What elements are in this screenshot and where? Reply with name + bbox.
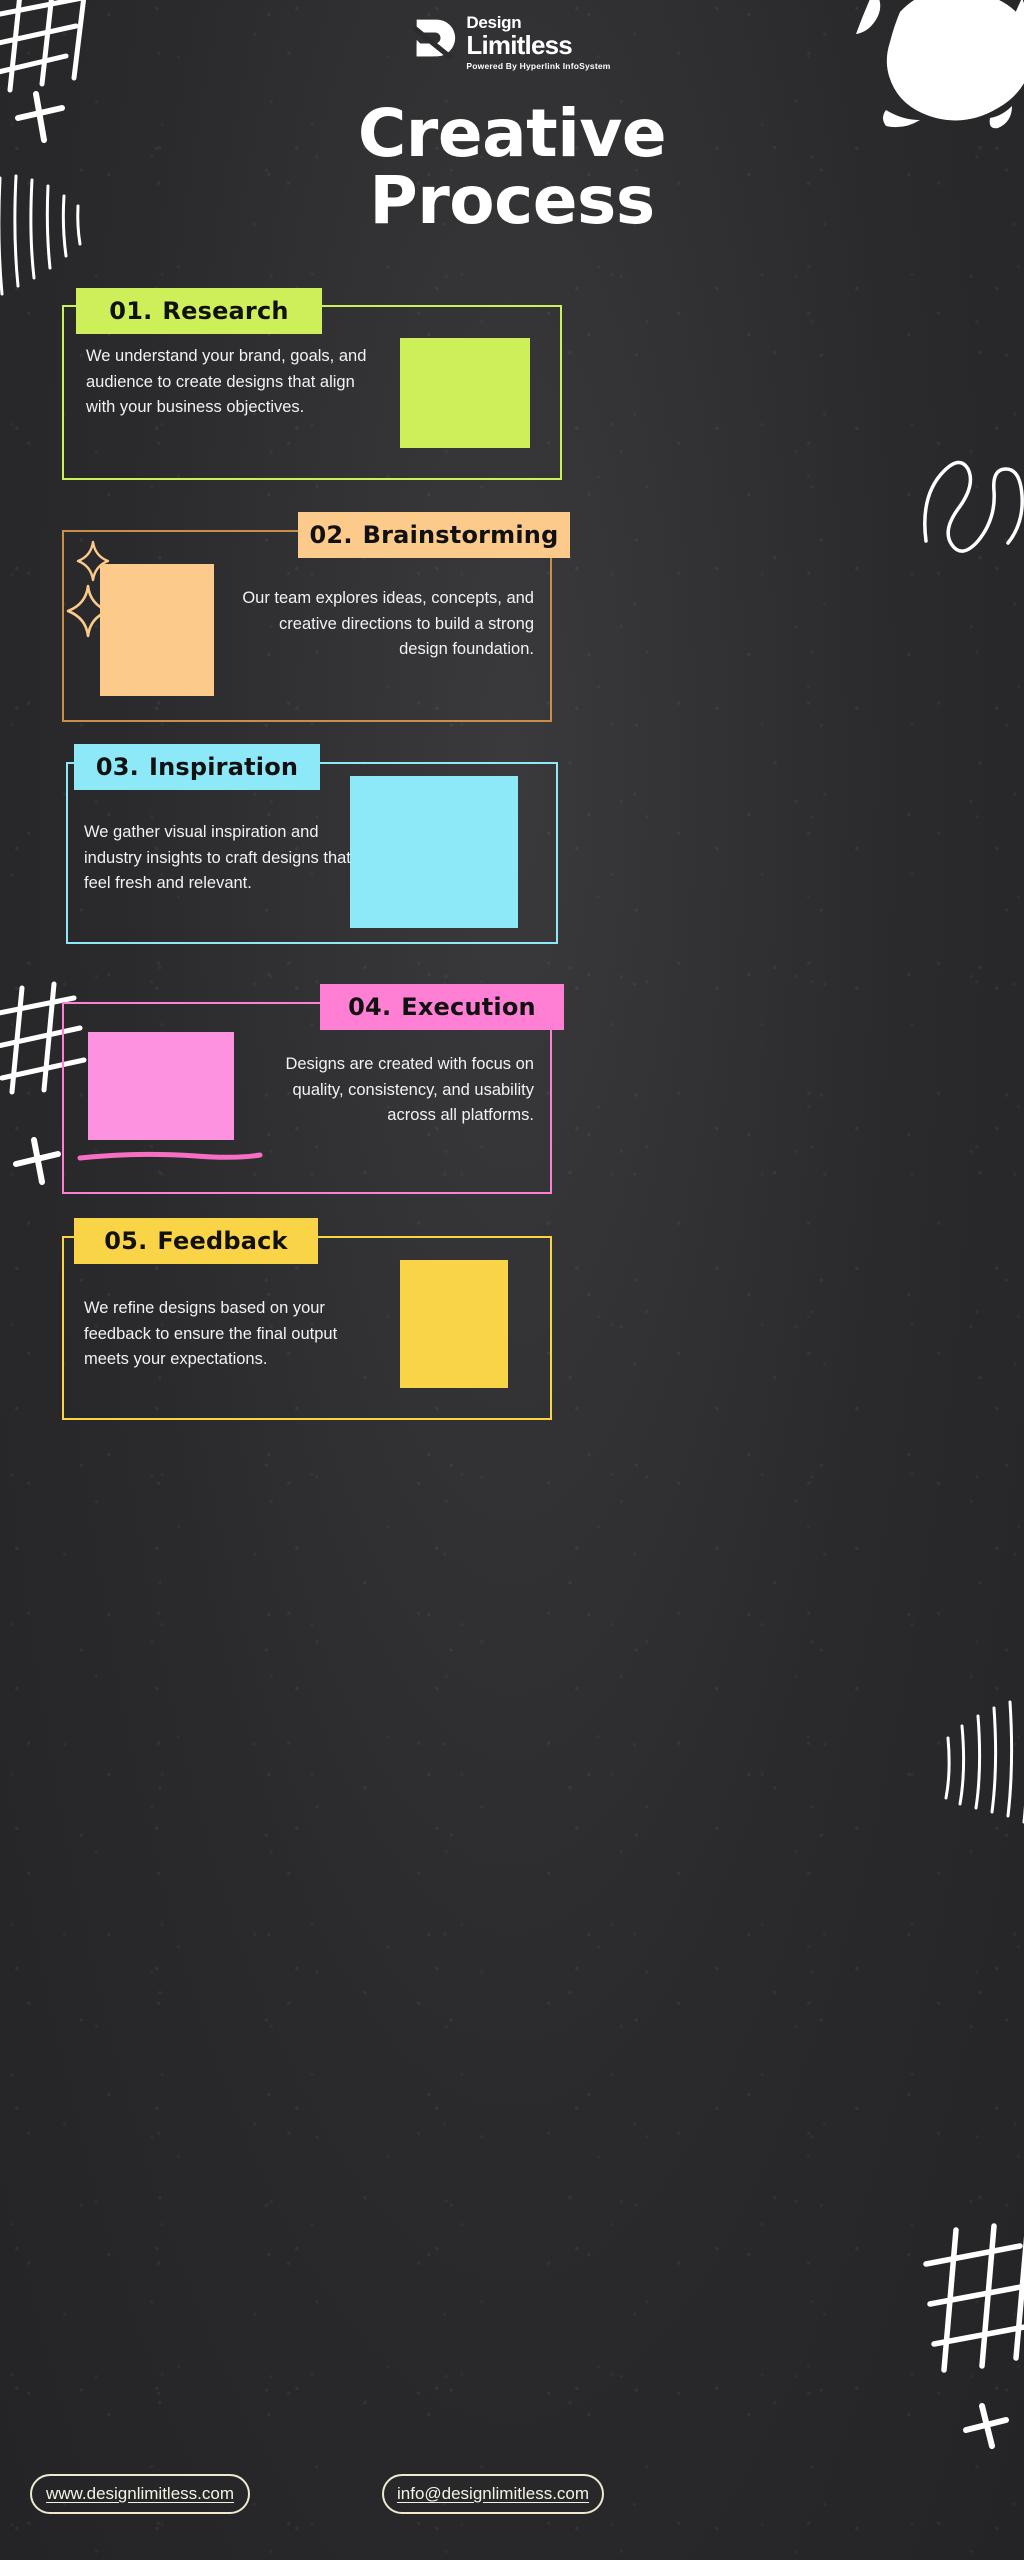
section-number: 02. <box>310 521 353 549</box>
section-banner: 04. Execution <box>320 984 564 1030</box>
doodle-hash-right-bottom <box>912 2220 1024 2400</box>
section-body: Our team explores ideas, concepts, and c… <box>234 586 534 663</box>
section-body: We refine designs based on your feedback… <box>84 1296 380 1373</box>
section-number: 03. <box>96 753 139 781</box>
section-banner: 02. Brainstorming <box>298 512 570 558</box>
section-name: Execution <box>401 993 536 1021</box>
section-number: 05. <box>104 1227 147 1255</box>
doodle-comb-right-lower <box>930 1690 1024 1830</box>
section-banner: 05. Feedback <box>74 1218 318 1264</box>
title-line-2: Process <box>0 167 1024 234</box>
section-feedback: 05. Feedback We refine designs based on … <box>62 1218 552 1420</box>
section-number: 01. <box>109 297 152 325</box>
section-swatch <box>400 338 530 448</box>
section-swatch <box>100 564 214 696</box>
doodle-loops-right-middle <box>918 445 1024 555</box>
brand-logo: Design Limitless Powered By Hyperlink In… <box>0 14 1024 71</box>
section-name: Inspiration <box>149 753 298 781</box>
section-inspiration: 03. Inspiration We gather visual inspira… <box>66 744 558 944</box>
section-name: Research <box>162 297 288 325</box>
section-execution: 04. Execution Designs are created with f… <box>62 984 552 1194</box>
page-title: Creative Process <box>0 100 1024 235</box>
title-line-1: Creative <box>0 100 1024 167</box>
section-swatch <box>350 776 518 928</box>
section-swatch <box>88 1032 234 1140</box>
section-number: 04. <box>348 993 391 1021</box>
doodle-plus-right-bottom <box>960 2400 1016 2456</box>
doodle-plus-left-lower <box>8 1132 70 1194</box>
infographic-poster: Design Limitless Powered By Hyperlink In… <box>0 0 1024 2560</box>
website-link[interactable]: www.designlimitless.com <box>46 2484 234 2504</box>
section-banner: 03. Inspiration <box>74 744 320 790</box>
section-body: Designs are created with focus on qualit… <box>244 1052 534 1129</box>
section-research: 01. Research We understand your brand, g… <box>62 288 562 480</box>
logo-line-design: Design <box>466 14 610 31</box>
website-pill[interactable]: www.designlimitless.com <box>30 2474 250 2514</box>
logo-tagline: Powered By Hyperlink InfoSystem <box>466 62 610 71</box>
section-name: Brainstorming <box>363 521 559 549</box>
section-swatch <box>400 1260 508 1388</box>
email-link[interactable]: info@designlimitless.com <box>397 2484 589 2504</box>
logo-line-limitless: Limitless <box>466 32 610 58</box>
logo-d-mark <box>413 16 457 60</box>
section-banner: 01. Research <box>76 288 322 334</box>
section-brainstorming: 02. Brainstorming Our team explores idea… <box>62 512 552 722</box>
section-body: We gather visual inspiration and industr… <box>84 820 354 897</box>
section-body: We understand your brand, goals, and aud… <box>86 344 386 421</box>
section-name: Feedback <box>157 1227 287 1255</box>
email-pill[interactable]: info@designlimitless.com <box>382 2474 604 2514</box>
